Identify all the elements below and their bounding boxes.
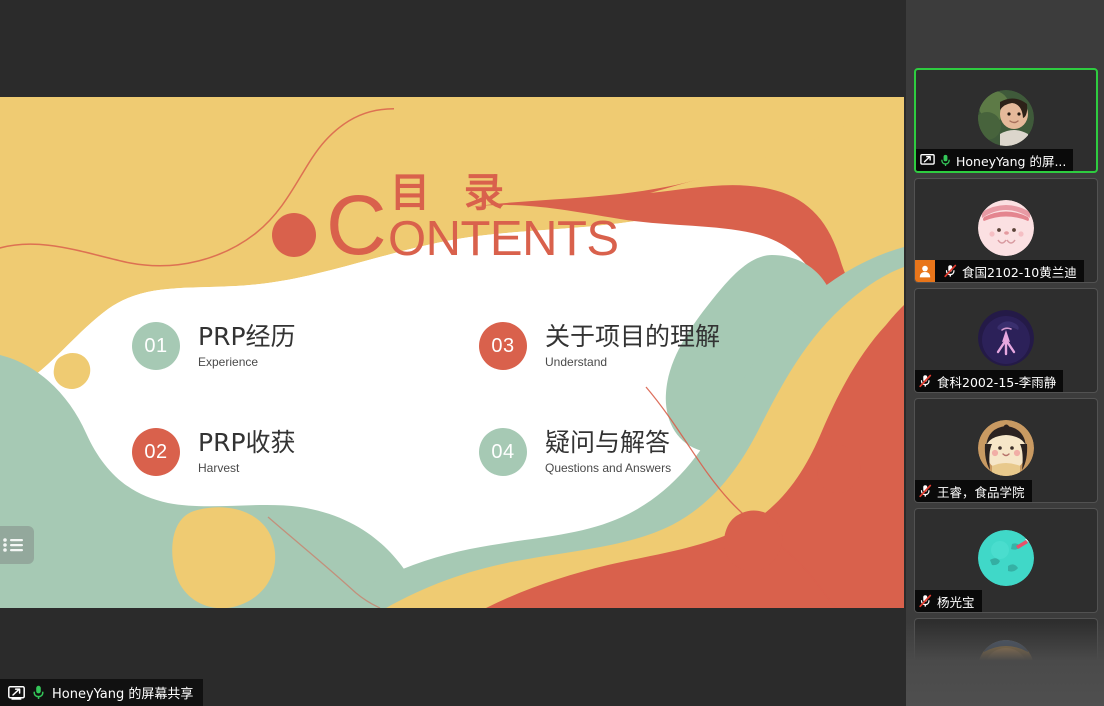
participant-tile-0[interactable]: HoneyYang 的屏... <box>914 68 1098 173</box>
participant-name-0: HoneyYang 的屏... <box>956 151 1066 170</box>
participant-name-4: 杨光宝 <box>937 592 975 611</box>
participant-namebar-0: HoneyYang 的屏... <box>916 149 1073 171</box>
host-badge <box>915 260 935 282</box>
avatar <box>978 200 1034 256</box>
toc-badge-02: 02 <box>132 428 180 476</box>
toc-title-04: 疑问与解答 <box>545 429 671 458</box>
toc-subtitle-04: Questions and Answers <box>545 461 671 475</box>
title-chinese: 目 录 <box>390 173 514 213</box>
toc-item-03[interactable]: 03 关于项目的理解 Understand <box>479 322 720 370</box>
avatar-photo-child-green <box>978 90 1034 146</box>
participant-tile-2[interactable]: 食科2002-15-李雨静 <box>914 288 1098 393</box>
avatar <box>978 90 1034 146</box>
toc-texts-02: PRP收获 Harvest <box>198 429 296 475</box>
title-initial: C <box>326 183 387 267</box>
toc-subtitle-01: Experience <box>198 355 296 369</box>
microphone-muted-icon <box>919 484 932 498</box>
participant-tile-1[interactable]: 食国2102-10黄兰迪 <box>914 178 1098 283</box>
avatar-cartoon-pink-bear <box>978 200 1034 256</box>
screen-share-status-bar: HoneyYang 的屏幕共享 <box>0 679 203 706</box>
microphone-on-icon <box>32 685 45 700</box>
avatar-cartoon-girl-tan <box>978 420 1034 476</box>
microphone-muted-icon <box>919 594 932 608</box>
toc-badge-04: 04 <box>479 428 527 476</box>
presentation-slide[interactable]: C 目 录 ONTENTS 01 PRP经历 Experience 02 <box>0 97 904 608</box>
toc-title-01: PRP经历 <box>198 323 296 352</box>
avatar-dark-purple-figure <box>978 310 1034 366</box>
toc-texts-01: PRP经历 Experience <box>198 323 296 369</box>
shared-screen-stage[interactable]: C 目 录 ONTENTS 01 PRP经历 Experience 02 <box>0 0 904 706</box>
participant-name-1: 食国2102-10黄兰迪 <box>962 262 1077 281</box>
participant-tile-4[interactable]: 杨光宝 <box>914 508 1098 613</box>
microphone-muted-icon <box>919 374 932 388</box>
participant-namebar-3: 王睿，食品学院 <box>915 480 1032 502</box>
participant-namebar-4: 杨光宝 <box>915 590 982 612</box>
avatar <box>978 640 1034 696</box>
toc-texts-04: 疑问与解答 Questions and Answers <box>545 429 671 475</box>
participant-namebar-2: 食科2002-15-李雨静 <box>915 370 1063 392</box>
title-latin-rest: ONTENTS <box>388 215 619 264</box>
list-menu-icon <box>2 537 24 553</box>
participant-tile-3[interactable]: 王睿，食品学院 <box>914 398 1098 503</box>
toc-texts-03: 关于项目的理解 Understand <box>545 323 720 369</box>
participant-name-2: 食科2002-15-李雨静 <box>937 372 1056 391</box>
participant-tile-5[interactable] <box>914 618 1098 706</box>
avatar <box>978 420 1034 476</box>
share-bar-label: HoneyYang 的屏幕共享 <box>52 683 193 702</box>
toc-subtitle-03: Understand <box>545 355 720 369</box>
toc-badge-01: 01 <box>132 322 180 370</box>
microphone-on-icon <box>940 154 951 167</box>
toc-subtitle-02: Harvest <box>198 461 296 475</box>
slide-title: C 目 录 ONTENTS <box>326 173 656 269</box>
list-menu-button[interactable] <box>0 526 34 564</box>
toc-badge-03: 03 <box>479 322 527 370</box>
participant-name-3: 王睿，食品学院 <box>937 482 1025 501</box>
toc-title-02: PRP收获 <box>198 429 296 458</box>
screen-share-icon <box>8 686 25 700</box>
person-icon <box>919 265 931 278</box>
toc-item-01[interactable]: 01 PRP经历 Experience <box>132 322 296 370</box>
participant-namebar-1: 食国2102-10黄兰迪 <box>915 260 1084 282</box>
participants-panel[interactable]: HoneyYang 的屏... <box>906 0 1104 706</box>
screen-share-icon <box>920 154 935 166</box>
participant-namebar-5 <box>915 700 926 706</box>
toc-item-04[interactable]: 04 疑问与解答 Questions and Answers <box>479 428 671 476</box>
avatar <box>978 310 1034 366</box>
conference-window: C 目 录 ONTENTS 01 PRP经历 Experience 02 <box>0 0 1104 706</box>
avatar-teal-globe <box>978 530 1034 586</box>
microphone-muted-icon <box>944 264 957 278</box>
avatar-partial-photo <box>978 640 1034 696</box>
avatar <box>978 530 1034 586</box>
toc-item-02[interactable]: 02 PRP收获 Harvest <box>132 428 296 476</box>
toc-title-03: 关于项目的理解 <box>545 323 720 352</box>
